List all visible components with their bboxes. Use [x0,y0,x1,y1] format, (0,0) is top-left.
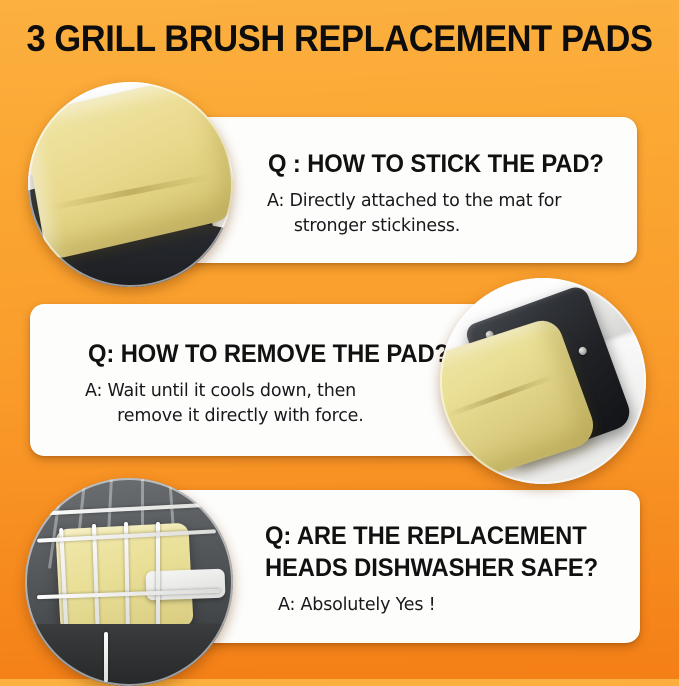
photo-content [25,478,233,686]
photo-content [28,82,233,287]
photo-content [440,278,646,484]
faq-question-line-1: Q: ARE THE REPLACEMENT [265,522,587,550]
faq-question-remove-pad: Q: HOW TO REMOVE THE PAD? [88,340,449,369]
faq-answer-remove-pad: A: Wait until it cools down, then remove… [85,379,364,429]
faq-question-dishwasher-safe: Q: ARE THE REPLACEMENTHEADS DISHWASHER S… [265,520,598,584]
faq-answer-dishwasher-safe: A: Absolutely Yes ! [278,593,435,618]
rack-wire-vertical [104,632,108,682]
faq-answer-stick-pad: A: Directly attached to the mat for stro… [267,189,561,239]
pad-removed-from-plate-photo [440,278,646,484]
infographic-canvas: 3 GRILL BRUSH REPLACEMENT PADS Q : HOW T… [0,0,679,679]
faq-question-line-2: HEADS DISHWASHER SAFE? [265,554,598,582]
dishwasher-floor [25,624,233,686]
faq-answer-line-2: remove it directly with force. [85,406,364,426]
pad-on-black-base-photo [28,82,233,287]
faq-answer-line-1: A: Directly attached to the mat for [267,191,561,211]
faq-answer-line-1: A: Wait until it cools down, then [85,381,356,401]
faq-question-stick-pad: Q : HOW TO STICK THE PAD? [268,150,604,179]
page-title: 3 GRILL BRUSH REPLACEMENT PADS [24,18,655,60]
rack-wire-vertical [156,522,160,638]
faq-answer-line-2: stronger stickiness. [267,216,460,236]
screw-icon [578,346,588,356]
pad-in-dishwasher-rack-photo [25,478,233,686]
